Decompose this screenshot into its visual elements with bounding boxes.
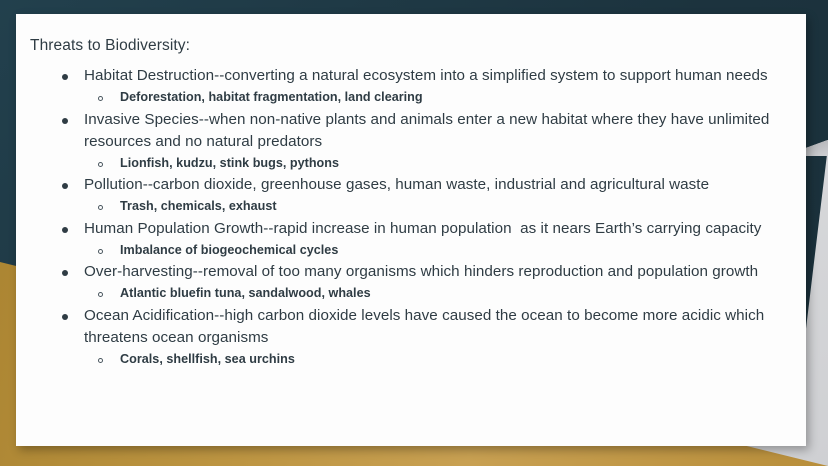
sub-bullet-text: Corals, shellfish, sea urchins <box>120 349 788 370</box>
slide-content-card: Threats to Biodiversity: Habitat Destruc… <box>16 14 806 446</box>
sub-bullet-item: Trash, chemicals, exhaust <box>84 196 788 217</box>
bullet-text: Human Population Growth--rapid increase … <box>84 218 788 240</box>
bullet-item: Ocean Acidification--high carbon dioxide… <box>28 305 788 370</box>
bullet-item: Over-harvesting--removal of too many org… <box>28 261 788 304</box>
page-title: Threats to Biodiversity: <box>30 36 788 55</box>
sub-bullet-text: Trash, chemicals, exhaust <box>120 196 788 217</box>
filled-disc-bullet-icon <box>62 74 68 80</box>
slide-canvas: Threats to Biodiversity: Habitat Destruc… <box>0 0 828 466</box>
sub-bullet-item: Deforestation, habitat fragmentation, la… <box>84 87 788 108</box>
bullet-item: Invasive Species--when non-native plants… <box>28 109 788 174</box>
filled-disc-bullet-icon <box>62 227 68 233</box>
bullet-item: Pollution--carbon dioxide, greenhouse ga… <box>28 174 788 217</box>
sub-bullet-text: Deforestation, habitat fragmentation, la… <box>120 87 788 108</box>
bullet-text: Pollution--carbon dioxide, greenhouse ga… <box>84 174 788 196</box>
hollow-circle-bullet-icon <box>98 292 103 297</box>
bullet-list: Habitat Destruction--converting a natura… <box>28 65 788 370</box>
sub-bullet-list: Deforestation, habitat fragmentation, la… <box>84 87 788 108</box>
hollow-circle-bullet-icon <box>98 162 103 167</box>
bullet-text: Ocean Acidification--high carbon dioxide… <box>84 305 788 349</box>
filled-disc-bullet-icon <box>62 183 68 189</box>
sub-bullet-list: Corals, shellfish, sea urchins <box>84 349 788 370</box>
sub-bullet-text: Lionfish, kudzu, stink bugs, pythons <box>120 153 788 174</box>
filled-disc-bullet-icon <box>62 314 68 320</box>
filled-disc-bullet-icon <box>62 118 68 124</box>
sub-bullet-item: Atlantic bluefin tuna, sandalwood, whale… <box>84 283 788 304</box>
bullet-text: Invasive Species--when non-native plants… <box>84 109 788 153</box>
sub-bullet-list: Lionfish, kudzu, stink bugs, pythons <box>84 153 788 174</box>
sub-bullet-list: Atlantic bluefin tuna, sandalwood, whale… <box>84 283 788 304</box>
sub-bullet-text: Imbalance of biogeochemical cycles <box>120 240 788 261</box>
sub-bullet-item: Lionfish, kudzu, stink bugs, pythons <box>84 153 788 174</box>
bullet-item: Human Population Growth--rapid increase … <box>28 218 788 261</box>
sub-bullet-item: Imbalance of biogeochemical cycles <box>84 240 788 261</box>
hollow-circle-bullet-icon <box>98 358 103 363</box>
sub-bullet-item: Corals, shellfish, sea urchins <box>84 349 788 370</box>
sub-bullet-list: Trash, chemicals, exhaust <box>84 196 788 217</box>
hollow-circle-bullet-icon <box>98 96 103 101</box>
hollow-circle-bullet-icon <box>98 205 103 210</box>
bullet-text: Habitat Destruction--converting a natura… <box>84 65 788 87</box>
filled-disc-bullet-icon <box>62 270 68 276</box>
sub-bullet-list: Imbalance of biogeochemical cycles <box>84 240 788 261</box>
sub-bullet-text: Atlantic bluefin tuna, sandalwood, whale… <box>120 283 788 304</box>
hollow-circle-bullet-icon <box>98 249 103 254</box>
bullet-text: Over-harvesting--removal of too many org… <box>84 261 788 283</box>
bullet-item: Habitat Destruction--converting a natura… <box>28 65 788 108</box>
